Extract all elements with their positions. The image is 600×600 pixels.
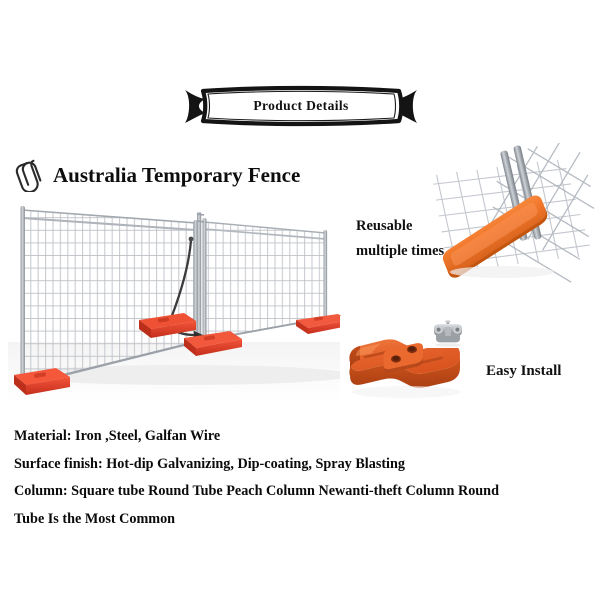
spec-line-surface-finish: Surface finish: Hot-dip Galvanizing, Dip…	[14, 451, 589, 479]
spec-line-material: Material: Iron ,Steel, Galfan Wire	[14, 423, 589, 451]
annotation-reusable-line1: Reusable	[356, 214, 444, 239]
fence-clamp-photo	[428, 320, 468, 348]
annotation-reusable: Reusable multiple times	[356, 214, 444, 264]
paperclip-icon	[14, 157, 48, 193]
banner-product-details: Product Details	[183, 86, 419, 126]
fence-foot-closeup-photo	[428, 142, 600, 290]
annotation-easy-install: Easy Install	[486, 363, 561, 380]
spec-line-column-continued: Tube Is the Most Common	[14, 506, 589, 534]
headline-title: Australia Temporary Fence	[53, 163, 300, 188]
temporary-fence-panels-photo	[8, 192, 352, 402]
headline-row: Australia Temporary Fence	[14, 158, 300, 192]
annotation-reusable-line2: multiple times	[356, 239, 444, 264]
product-details-poster: Product Details Australia Temporary Fenc…	[0, 0, 600, 600]
spec-line-column: Column: Square tube Round Tube Peach Col…	[14, 478, 589, 506]
banner-title: Product Details	[183, 86, 419, 126]
specifications-block: Material: Iron ,Steel, Galfan Wire Surfa…	[14, 423, 589, 533]
